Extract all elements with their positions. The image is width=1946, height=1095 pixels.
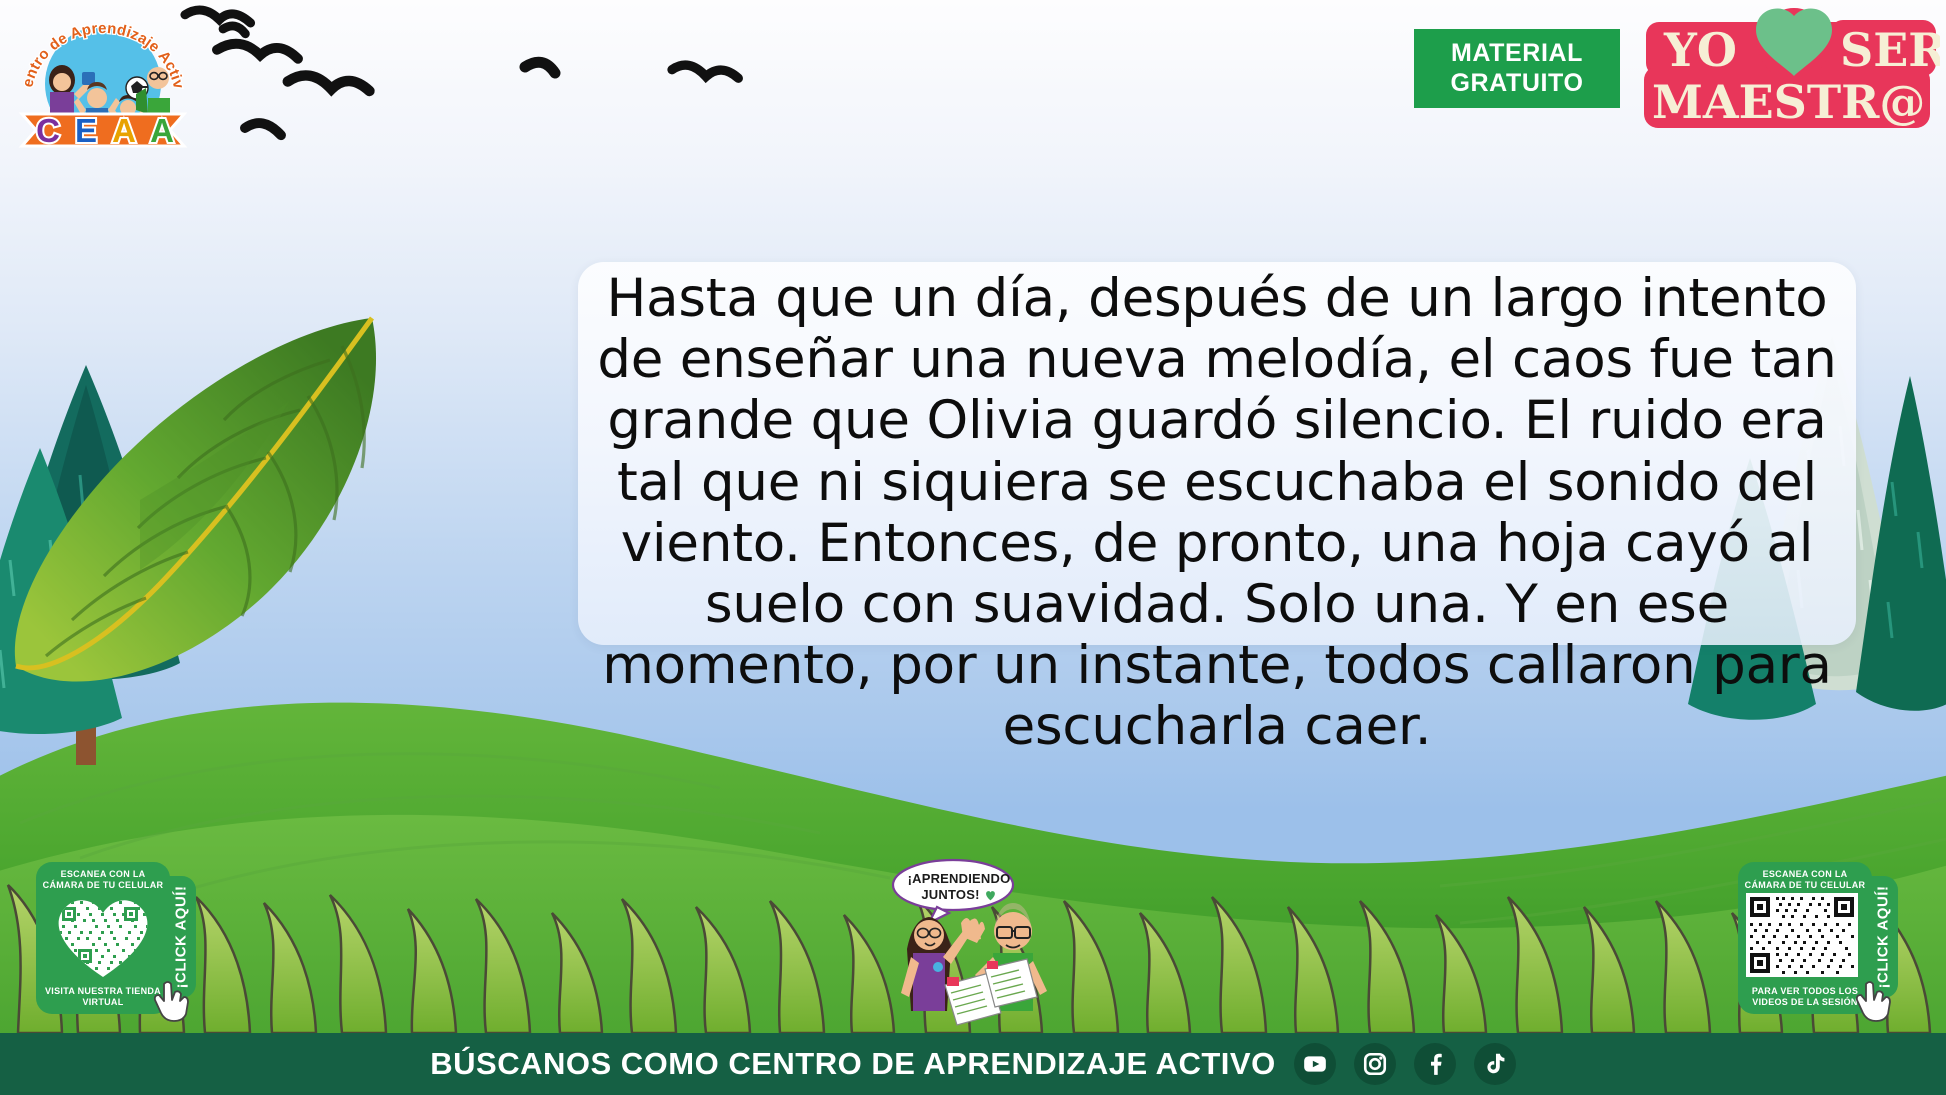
- facebook-icon[interactable]: [1414, 1043, 1456, 1085]
- youtube-icon[interactable]: [1294, 1043, 1336, 1085]
- speech-bubble-text: ¡APRENDIENDO JUNTOS!: [893, 871, 1025, 904]
- logo-letter-a2: A: [150, 112, 174, 149]
- tiktok-icon[interactable]: [1474, 1043, 1516, 1085]
- qr-left-header-line1: ESCANEA CON LA: [36, 869, 170, 880]
- hand-pointer-icon: [150, 978, 194, 1022]
- footer-bar: BÚSCANOS COMO CENTRO DE APRENDIZAJE ACTI…: [0, 1033, 1946, 1095]
- bubble-line-1: ¡APRENDIENDO: [893, 871, 1025, 887]
- bubble-line-2: JUNTOS!: [921, 887, 979, 903]
- yo-badge-yo: YO: [1663, 23, 1737, 77]
- logo-letter-a1: A: [112, 112, 136, 149]
- material-badge-line1: MATERIAL: [1451, 39, 1583, 69]
- teacher-characters: ¡APRENDIENDO JUNTOS!: [885, 857, 1090, 1047]
- footer-text: BÚSCANOS COMO CENTRO DE APRENDIZAJE ACTI…: [430, 1046, 1275, 1082]
- qr-code-heart-icon[interactable]: [48, 893, 158, 979]
- click-aqui-label-right: ¡CLICK AQUÍ!: [1875, 886, 1892, 989]
- heart-icon: [984, 889, 997, 902]
- qr-code-square-icon[interactable]: [1746, 893, 1858, 977]
- hand-pointer-icon: [1852, 978, 1896, 1022]
- story-text-card: Hasta que un día, después de un largo in…: [578, 262, 1856, 645]
- qr-left-header: ESCANEA CON LA CÁMARA DE TU CELULAR: [36, 862, 170, 891]
- qr-right-header-line1: ESCANEA CON LA: [1738, 869, 1872, 880]
- logo-letter-e: E: [75, 112, 97, 149]
- yo-badge-graphic: YO SER MAESTR@: [1642, 8, 1940, 140]
- instagram-icon[interactable]: [1354, 1043, 1396, 1085]
- logo-letter-c: C: [36, 112, 60, 149]
- yo-amo-ser-maestro-badge: YO SER MAESTR@: [1642, 8, 1940, 140]
- ceaa-logo-graphic: Centro de Aprendizaje Activo C E A A: [12, 2, 194, 154]
- material-gratuito-badge: MATERIAL GRATUITO: [1414, 29, 1620, 108]
- yo-badge-maestro: MAESTR@: [1652, 75, 1925, 129]
- qr-right-header-line2: CÁMARA DE TU CELULAR: [1738, 880, 1872, 891]
- story-paragraph: Hasta que un día, después de un largo in…: [578, 262, 1856, 758]
- material-badge-line2: GRATUITO: [1450, 69, 1583, 99]
- qr-left-header-line2: CÁMARA DE TU CELULAR: [36, 880, 170, 891]
- click-aqui-label-left: ¡CLICK AQUÍ!: [173, 886, 190, 989]
- tree-right-dark: [1848, 372, 1946, 772]
- big-leaf: [0, 300, 420, 720]
- yo-badge-ser: SER: [1840, 23, 1940, 77]
- qr-right-header: ESCANEA CON LA CÁMARA DE TU CELULAR: [1738, 862, 1872, 891]
- ceaa-logo[interactable]: Centro de Aprendizaje Activo C E A A: [12, 2, 194, 154]
- slide-canvas: Centro de Aprendizaje Activo C E A A MAT…: [0, 0, 1946, 1095]
